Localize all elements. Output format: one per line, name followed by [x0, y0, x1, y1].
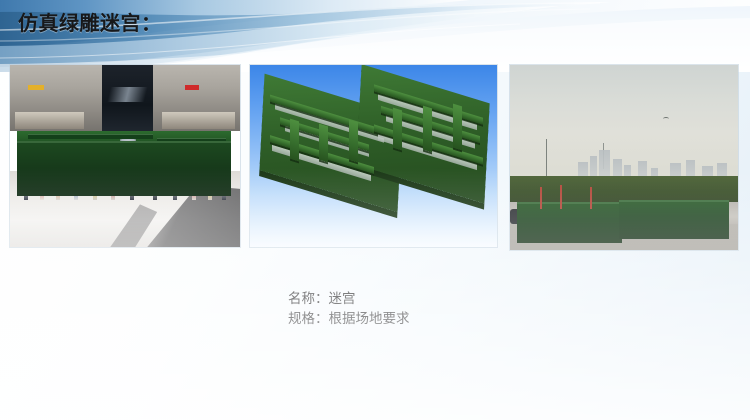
- bird-silhouette: [663, 117, 669, 121]
- maze-hedge-wall: [290, 118, 299, 161]
- maze-hedge-wall: [319, 124, 328, 163]
- shop-sign-red: [185, 85, 199, 90]
- shop-sign-yellow: [28, 85, 44, 90]
- photo-2-content: [250, 65, 497, 247]
- maze-hedge-wall: [423, 106, 432, 152]
- photo-3-content: [510, 65, 738, 250]
- maze-outer-wall: [17, 141, 231, 196]
- maze-hedge-block-back: [619, 200, 728, 239]
- photo-1-content: [10, 65, 240, 247]
- support-post: [590, 187, 592, 209]
- maze-hedge-wall: [349, 120, 358, 163]
- pillar-reflection: [107, 87, 147, 102]
- support-post: [540, 187, 542, 209]
- shopfront-right: [162, 112, 236, 128]
- indoor-mall-maze-photo: [10, 65, 240, 247]
- product-caption: 名称：迷宫 规格：根据场地要求: [288, 289, 410, 329]
- support-post: [560, 185, 562, 209]
- slide-canvas: 仿真绿雕迷宫：: [0, 0, 750, 420]
- maze-hedge-wall: [453, 104, 462, 150]
- page-title: 仿真绿雕迷宫：: [18, 11, 162, 36]
- maze-3d-render-photo: [250, 65, 497, 247]
- outdoor-roadside-maze-photo: [510, 65, 738, 250]
- shopfront-left: [15, 112, 84, 128]
- maze-hedge-wall: [393, 107, 402, 150]
- caption-spec-line: 规格：根据场地要求: [288, 309, 410, 329]
- maze-wall: [28, 134, 152, 139]
- caption-name-line: 名称：迷宫: [288, 289, 410, 309]
- maze-hedge-block-front: [517, 202, 622, 243]
